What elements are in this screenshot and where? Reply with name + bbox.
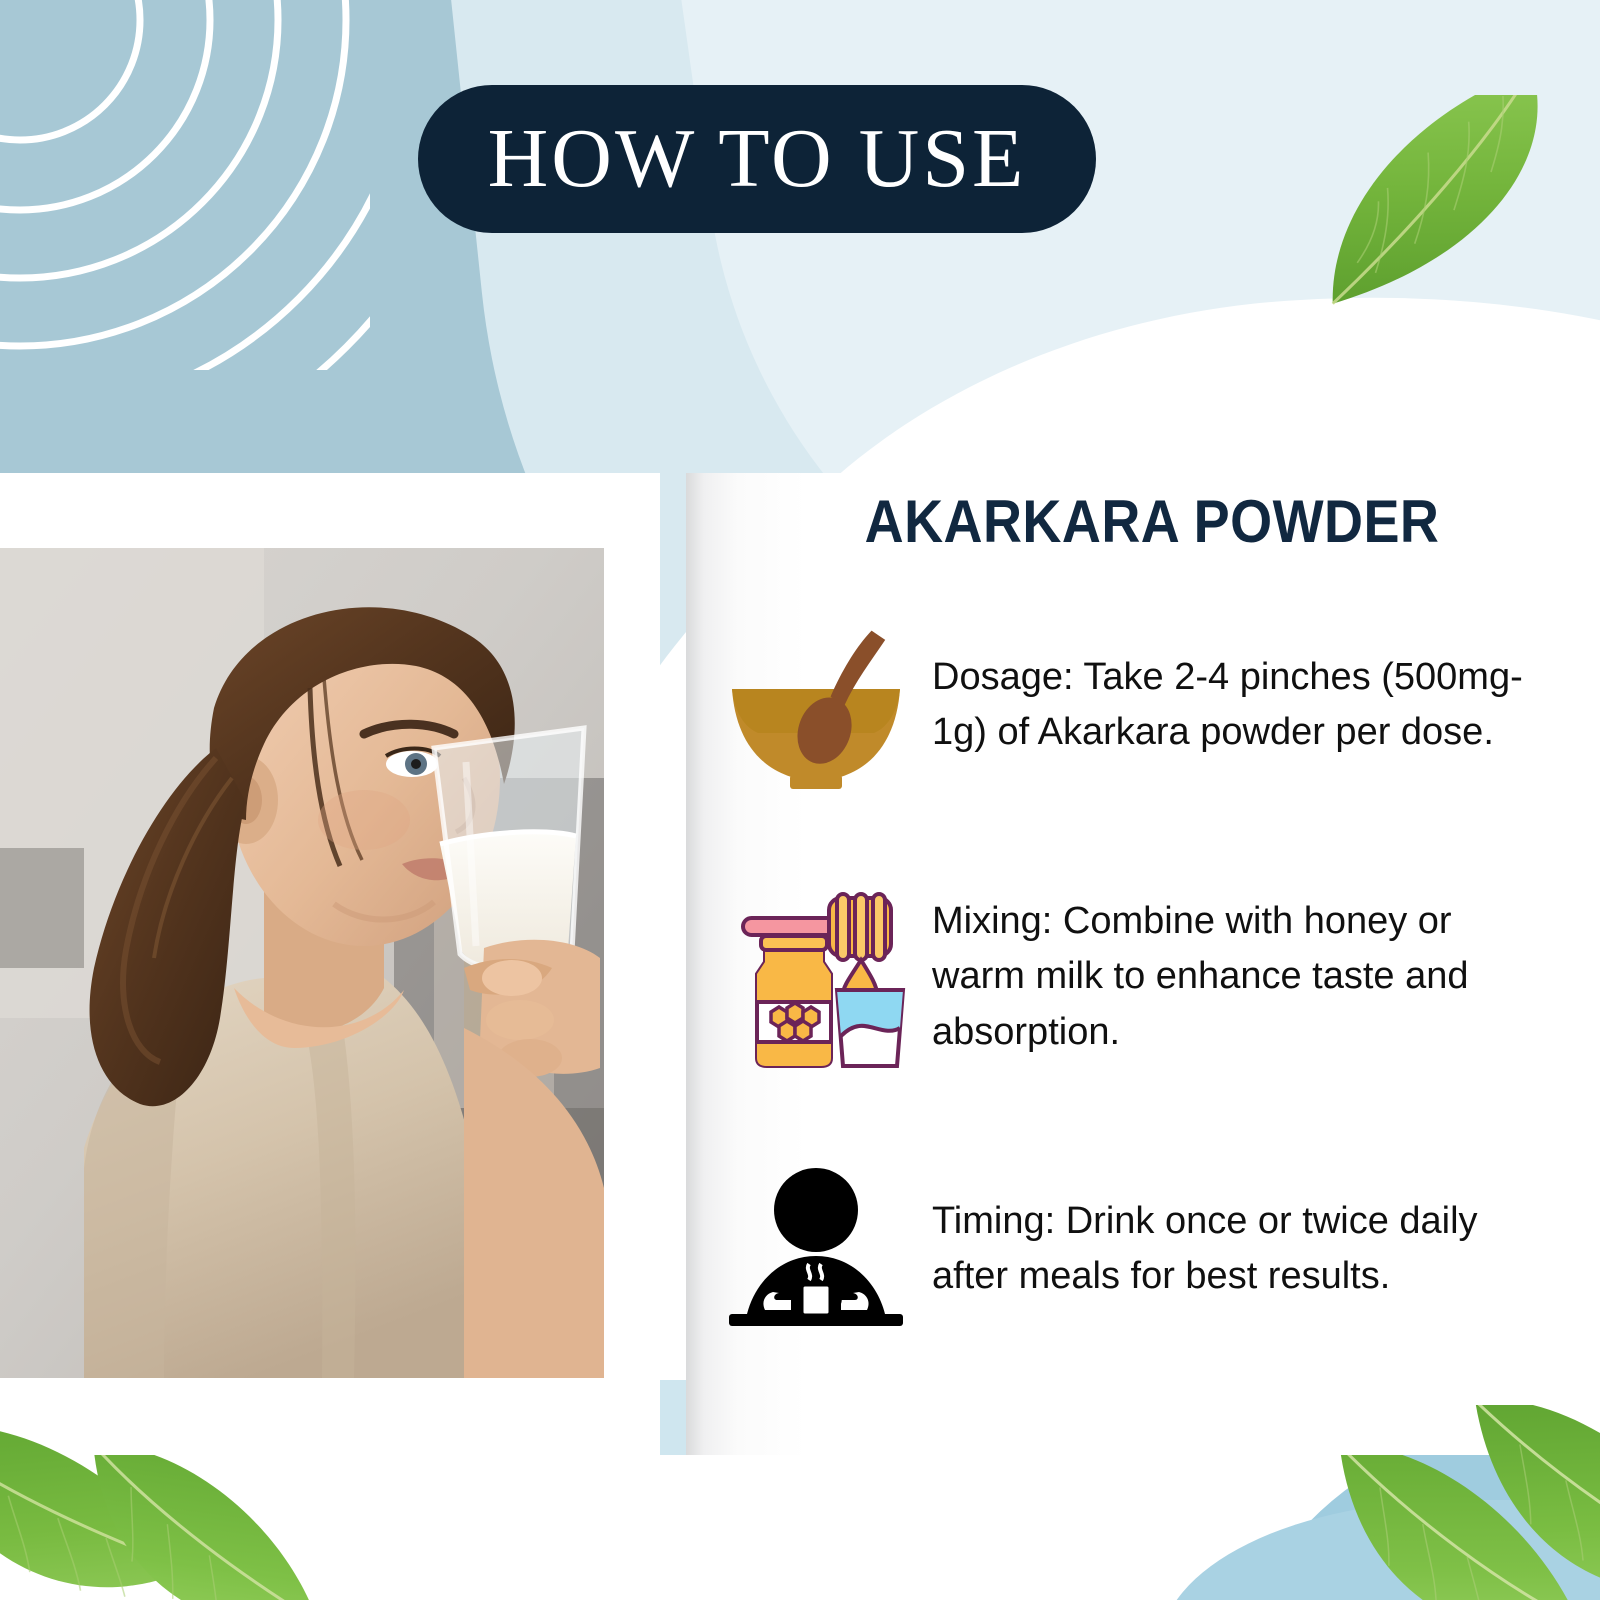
bowl-of-powder-with-spoon-icon: [700, 615, 932, 795]
page-title-pill: HOW TO USE: [418, 85, 1096, 233]
product-heading: AKARKARA POWDER: [765, 487, 1539, 556]
usage-step-timing-text: Timing: Drink once or twice daily after …: [932, 1194, 1580, 1304]
honey-jar-dipper-and-milk-glass-icon: [700, 884, 932, 1070]
page-title: HOW TO USE: [488, 117, 1027, 201]
usage-steps-list: Dosage: Take 2-4 pinches (500mg-1g) of A…: [700, 600, 1580, 1354]
woman-drinking-milk-illustration: [0, 548, 604, 1378]
usage-step-mixing-text: Mixing: Combine with honey or warm milk …: [932, 894, 1580, 1059]
hero-photo: [0, 548, 604, 1378]
usage-step-mixing: Mixing: Combine with honey or warm milk …: [700, 872, 1580, 1082]
usage-step-timing: Timing: Drink once or twice daily after …: [700, 1144, 1580, 1354]
left-bottom-white-strip: [0, 1455, 700, 1600]
infographic-poster: HOW TO USE: [0, 0, 1600, 1600]
person-drinking-at-table-icon: [700, 1164, 932, 1334]
usage-step-dosage: Dosage: Take 2-4 pinches (500mg-1g) of A…: [700, 600, 1580, 810]
product-heading-wrap: AKARKARA POWDER: [722, 487, 1582, 556]
usage-step-dosage-text: Dosage: Take 2-4 pinches (500mg-1g) of A…: [932, 650, 1580, 760]
